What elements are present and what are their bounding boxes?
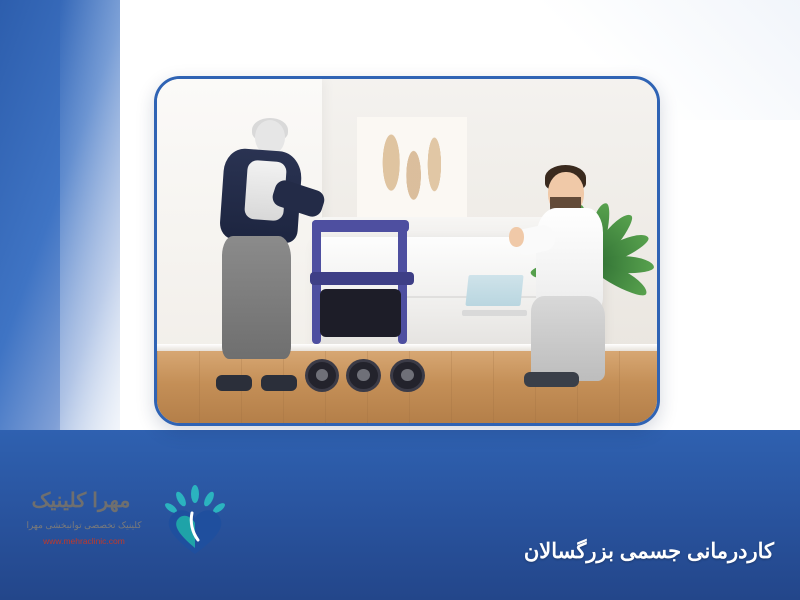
therapist-shoe bbox=[524, 372, 579, 387]
therapist-hand bbox=[509, 227, 523, 246]
brand-tagline: کلینیک تخصصی توانبخشی مهرا bbox=[26, 520, 142, 531]
walker-wheel bbox=[346, 359, 381, 393]
therapist-legs bbox=[531, 296, 605, 381]
photo-card bbox=[154, 76, 660, 426]
brand-logo-block: مهرا کلینیک کلینیک تخصصی توانبخشی مهرا w… bbox=[24, 480, 254, 580]
lotus-heart-icon bbox=[152, 480, 238, 560]
therapist-figure bbox=[507, 172, 627, 385]
walker-bag bbox=[320, 289, 401, 337]
photo-image bbox=[157, 79, 657, 423]
walker-wheel bbox=[305, 359, 340, 393]
patient-shoe bbox=[261, 375, 297, 391]
patient-shoe bbox=[216, 375, 252, 391]
patient-legs bbox=[222, 236, 291, 359]
wall-art-strokes bbox=[372, 128, 451, 219]
page-canvas: مهرا کلینیک کلینیک تخصصی توانبخشی مهرا w… bbox=[0, 0, 800, 600]
brand-name: مهرا کلینیک bbox=[23, 488, 139, 513]
brand-website: www.mehraclinic.com bbox=[26, 536, 142, 546]
brand-wordmark: مهرا کلینیک کلینیک تخصصی توانبخشی مهرا w… bbox=[26, 486, 136, 552]
rollator-walker bbox=[302, 220, 432, 392]
walker-wheel bbox=[390, 359, 425, 393]
walker-seat bbox=[310, 272, 414, 286]
wall-art bbox=[357, 117, 467, 231]
headline-text: کاردرمانی جسمی بزرگسالان bbox=[524, 539, 774, 564]
